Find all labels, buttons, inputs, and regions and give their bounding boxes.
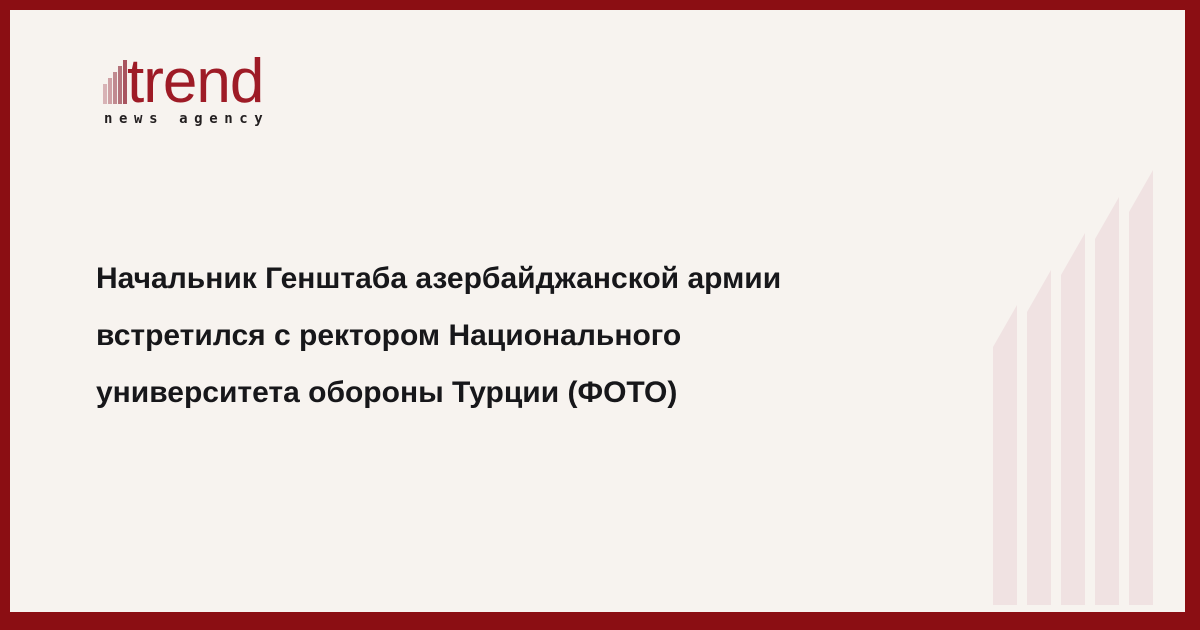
watermark-bar-4 [1095, 197, 1119, 605]
logo-mark-bar-1 [103, 84, 107, 104]
logo-tagline: news agency [104, 111, 269, 127]
trend-bars-watermark [993, 170, 1153, 605]
headline-line-2: встретился с ректором Национального [96, 307, 1006, 364]
watermark-bar-2 [1027, 270, 1051, 605]
logo-mark-bar-4 [118, 66, 122, 104]
logo-mark-bar-2 [108, 78, 112, 104]
watermark-bar-3 [1061, 233, 1085, 605]
share-card: trend news agency Начальник Генштаба азе… [0, 0, 1200, 630]
page-title: Начальник Генштаба азербайджанской армии… [96, 250, 1006, 421]
card-canvas: trend news agency Начальник Генштаба азе… [10, 10, 1185, 612]
watermark-bar-5 [1129, 170, 1153, 605]
trend-logo[interactable]: trend news agency [96, 48, 456, 140]
logo-mark-bar-3 [113, 72, 117, 104]
headline-line-3: университета обороны Турции (ФОТО) [96, 364, 1006, 421]
headline-line-1: Начальник Генштаба азербайджанской армии [96, 250, 1006, 307]
logo-wordmark: trend [127, 48, 263, 116]
